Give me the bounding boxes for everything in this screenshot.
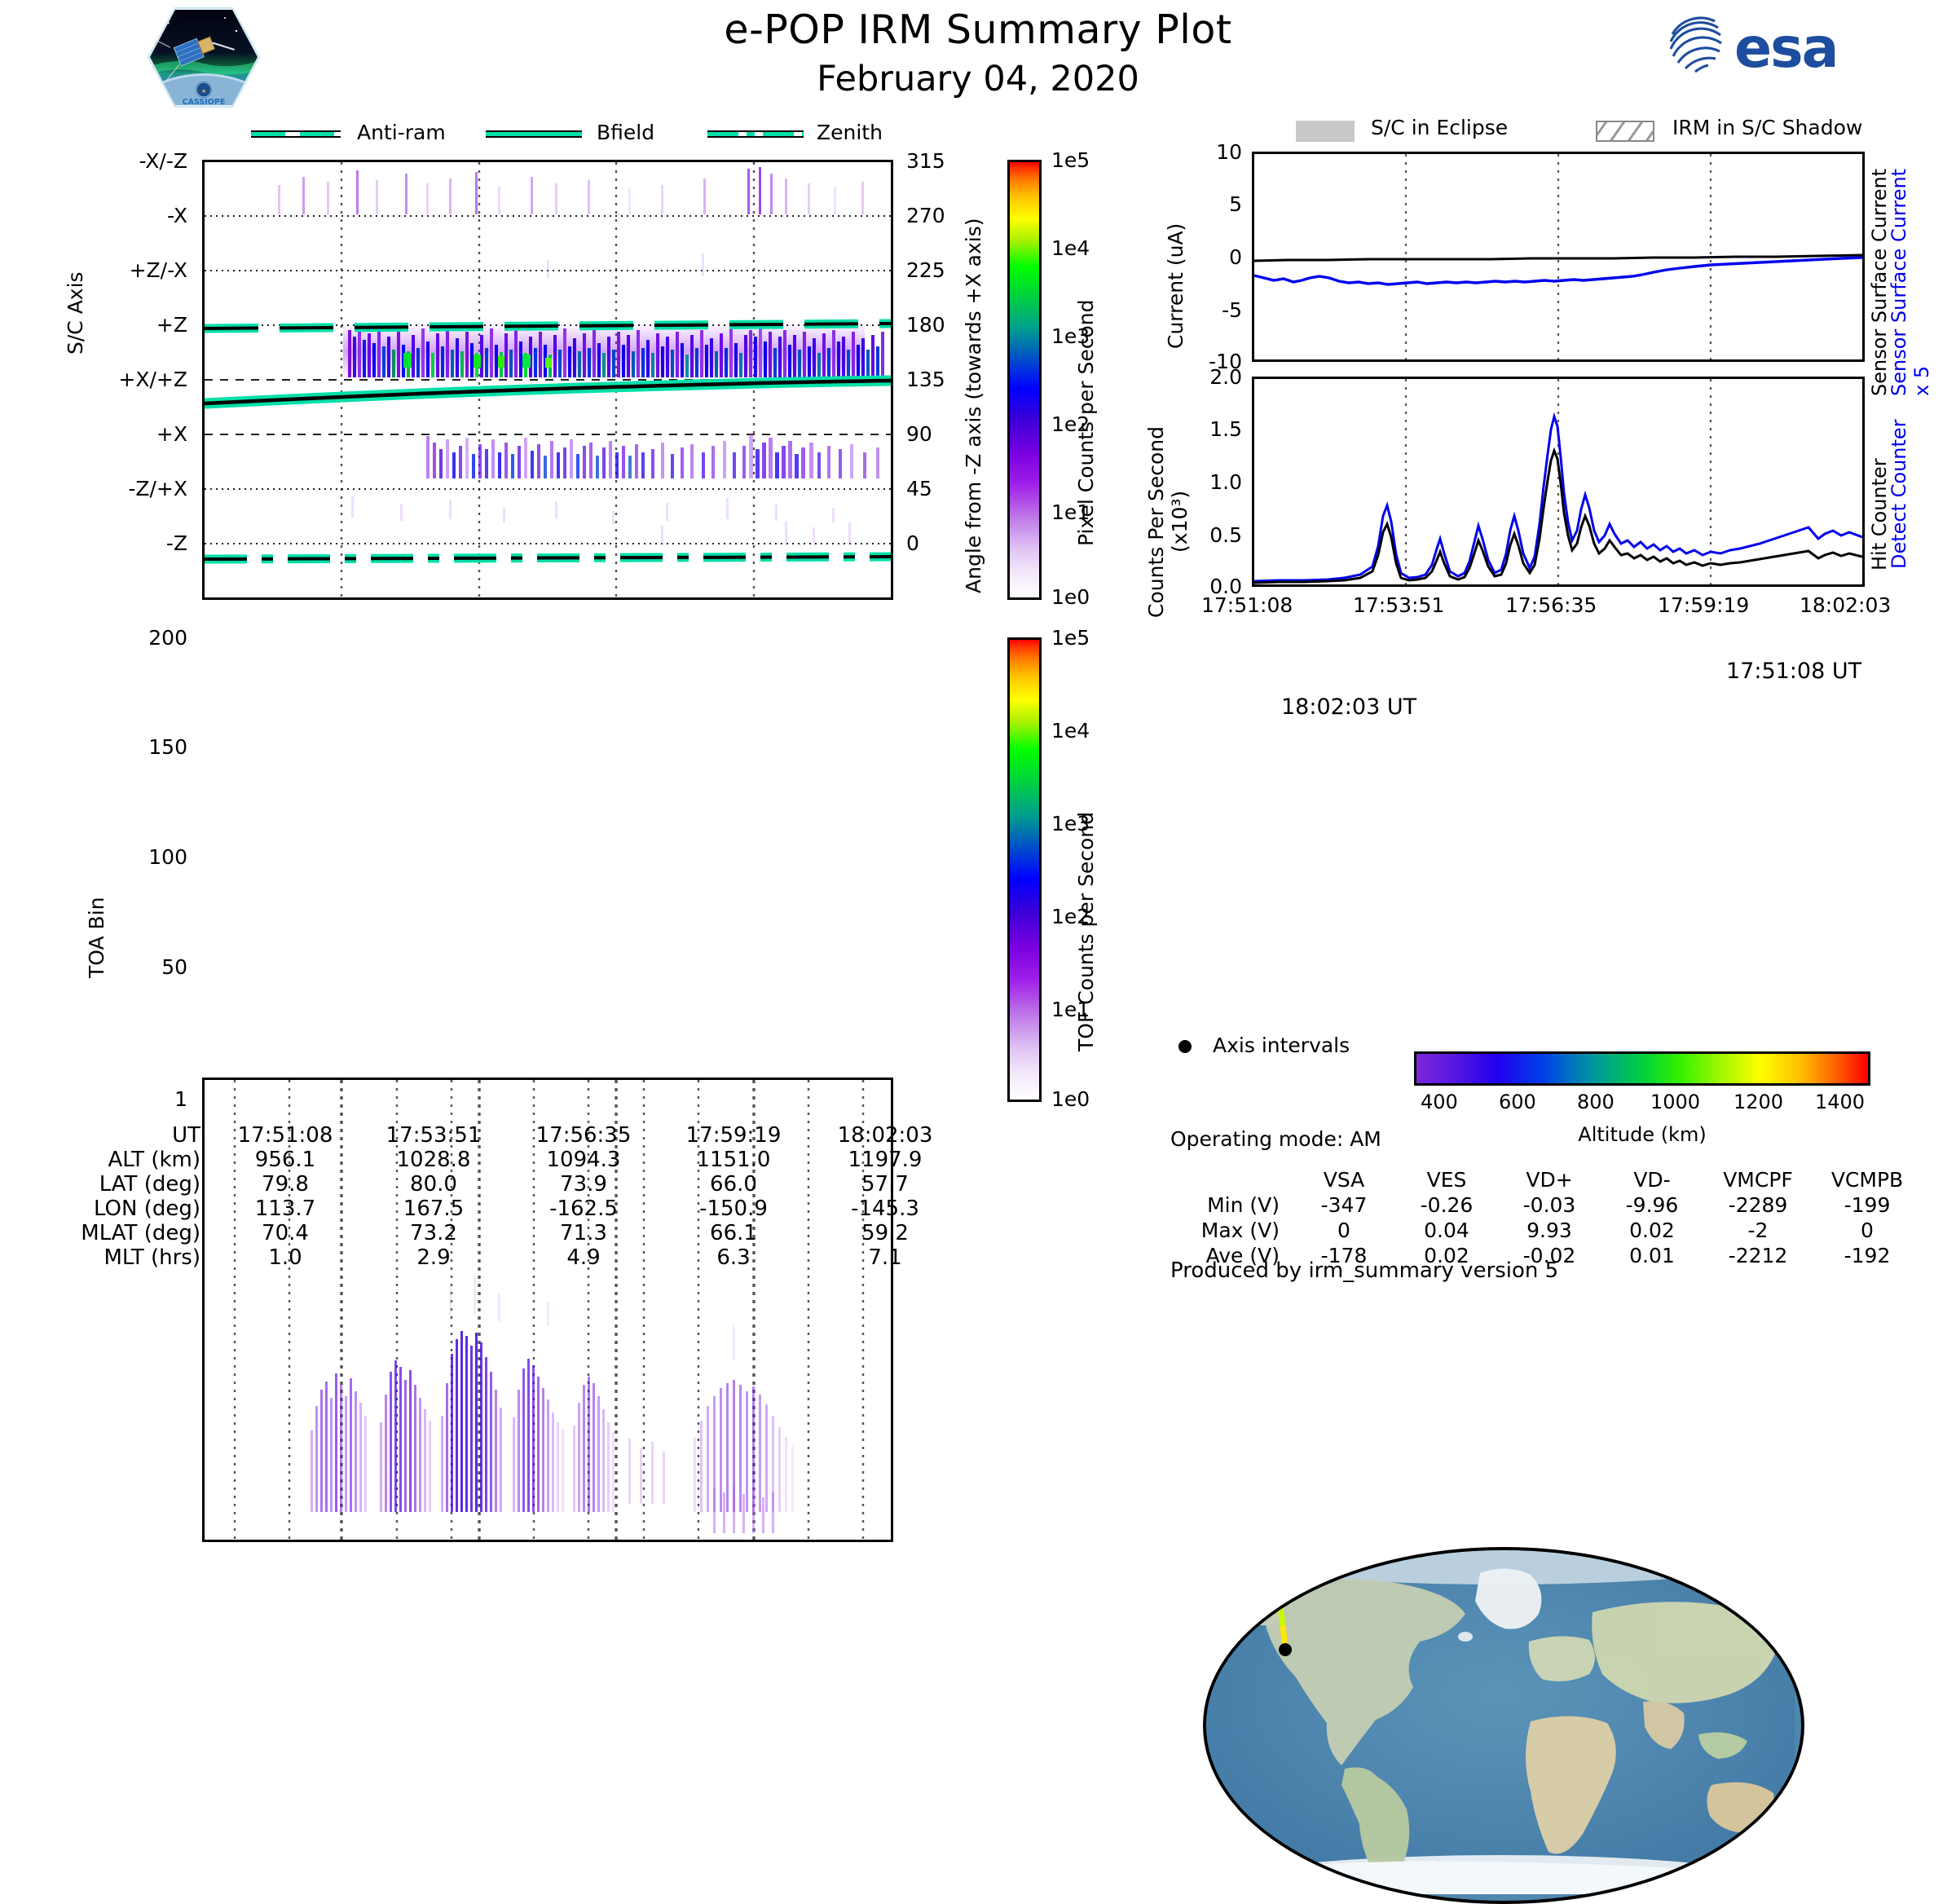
sc-tick-0: -X/-Z xyxy=(139,149,187,173)
angle-tick-0: 0 xyxy=(906,531,919,555)
min-vsa: -347 xyxy=(1293,1192,1395,1218)
vcol-ves: VES xyxy=(1395,1167,1498,1192)
alt-tick-1400: 1400 xyxy=(1815,1091,1865,1113)
cnt-x-3: 17:59:19 xyxy=(1658,593,1749,617)
toa-yticks: 200 150 100 50 1 xyxy=(106,637,196,1102)
toa-tick-100: 100 xyxy=(148,845,187,869)
alt-c0: 956.1 xyxy=(212,1148,359,1172)
landmass-new-zealand xyxy=(1756,1840,1778,1853)
max-vdp: 9.93 xyxy=(1498,1218,1601,1243)
max-ves: 0.04 xyxy=(1395,1218,1498,1243)
angle-tick-270: 270 xyxy=(906,204,945,227)
ut-c2: 17:56:35 xyxy=(509,1123,659,1148)
row-label-mlat: MLAT (deg) xyxy=(49,1221,212,1245)
sc-axis-yticks: -X/-Z -X +Z/-X +Z +X/+Z +X -Z/+X -Z xyxy=(90,160,196,600)
counts-xticks: 17:51:08 17:53:51 17:56:35 17:59:19 18:0… xyxy=(1252,593,1865,626)
toa-tick-1: 1 xyxy=(174,1087,187,1111)
table-row: Max (V) 0 0.04 9.93 0.02 -2 0 xyxy=(1170,1218,1922,1243)
altitude-colorbar xyxy=(1414,1051,1870,1086)
lat-c4: 57.7 xyxy=(808,1172,962,1197)
produced-by-label: Produced by irm_summary version 5 xyxy=(1170,1258,1558,1283)
current-panel[interactable] xyxy=(1252,152,1865,362)
mlt-c4: 7.1 xyxy=(808,1245,962,1270)
ut-c1: 17:53:51 xyxy=(359,1123,509,1148)
ground-track-map[interactable] xyxy=(1203,1547,1804,1904)
toa-tick-50: 50 xyxy=(161,955,187,979)
toa-tick-200: 200 xyxy=(148,626,187,650)
alt-tick-800: 800 xyxy=(1577,1091,1615,1113)
angle-tick-225: 225 xyxy=(906,258,945,282)
legend-label-zenith: Zenith xyxy=(817,121,883,144)
max-vcmpb: 0 xyxy=(1813,1218,1922,1243)
mlt-c0: 1.0 xyxy=(212,1245,359,1270)
angle-tick-45: 45 xyxy=(906,477,932,500)
alt-c3: 1151.0 xyxy=(659,1148,808,1172)
ut-c0: 17:51:08 xyxy=(212,1123,359,1148)
cnt-tick-05: 0.5 xyxy=(1209,523,1242,547)
map-start-label: 17:51:08 UT xyxy=(1726,659,1861,684)
hit-counter-trace xyxy=(1254,451,1862,583)
angle-tick-180: 180 xyxy=(906,313,945,337)
table-row: Min (V) -347 -0.26 -0.03 -9.96 -2289 -19… xyxy=(1170,1192,1922,1218)
landmass-europe xyxy=(1529,1636,1595,1681)
lat-c1: 80.0 xyxy=(359,1172,509,1197)
sc-tick-3: +Z xyxy=(156,313,187,337)
angle-tick-90: 90 xyxy=(906,422,932,446)
landmass-antarctica xyxy=(1206,1861,1795,1894)
angle-tick-315: 315 xyxy=(906,149,945,173)
table-row: ALT (km) 956.1 1028.8 1094.3 1151.0 1197… xyxy=(49,1148,962,1172)
cnt-x-1: 17:53:51 xyxy=(1353,593,1444,617)
vcol-vsa: VSA xyxy=(1293,1167,1395,1192)
angle-tick-135: 135 xyxy=(906,368,945,391)
cur-tick-0: 0 xyxy=(1229,245,1242,269)
current-yticks: 10 5 0 -5 -10 xyxy=(1182,152,1250,362)
alt-c2: 1094.3 xyxy=(509,1148,659,1172)
sc-tick-7: -Z xyxy=(166,531,187,555)
altitude-colorbar-label: Altitude (km) xyxy=(1414,1123,1870,1146)
cnt-x-4: 18:02:03 xyxy=(1800,593,1891,617)
table-row: LON (deg) 113.7 167.5 -162.5 -150.9 -145… xyxy=(49,1197,962,1221)
zenith-trace xyxy=(205,557,891,559)
legend-swatch-eclipse xyxy=(1296,121,1355,142)
lon-c0: 113.7 xyxy=(212,1197,359,1221)
lat-c3: 66.0 xyxy=(659,1172,808,1197)
lon-c4: -145.3 xyxy=(808,1197,962,1221)
vrow-label-max: Max (V) xyxy=(1170,1218,1293,1243)
vcol-vcmpb: VCMPB xyxy=(1813,1167,1922,1192)
axis-interval-label: Axis intervals xyxy=(1213,1034,1350,1057)
voltage-header-row: VSA VES VD+ VD- VMCPF VCMPB xyxy=(1170,1167,1922,1192)
sc-tick-2: +Z/-X xyxy=(130,258,187,282)
ut-c4: 18:02:03 xyxy=(808,1123,962,1148)
ave-vmcpf: -2212 xyxy=(1703,1243,1813,1268)
row-label-ut: UT xyxy=(49,1123,212,1148)
bfield-trace xyxy=(205,381,891,403)
legend-left: Anti-ram Bfield Zenith xyxy=(236,121,823,148)
landmass-iceland xyxy=(1458,1632,1473,1642)
sc-tick-5: +X xyxy=(156,422,187,446)
tof-cb-1e5: 1e5 xyxy=(1051,626,1090,650)
cnt-tick-1: 1.0 xyxy=(1209,470,1242,494)
min-vdm: -9.96 xyxy=(1601,1192,1703,1218)
sc-tick-4: +X/+Z xyxy=(118,368,187,391)
current-right-label-blue: Sensor Surface Current x 5 xyxy=(1888,152,1933,396)
cur-tick-m5: -5 xyxy=(1222,298,1242,322)
mlat-c2: 71.3 xyxy=(509,1221,659,1245)
row-label-lon: LON (deg) xyxy=(49,1197,212,1221)
counts-panel[interactable] xyxy=(1252,377,1865,587)
lon-c2: -162.5 xyxy=(509,1197,659,1221)
table-row: LAT (deg) 79.8 80.0 73.9 66.0 57.7 xyxy=(49,1172,962,1197)
legend-label-anti-ram: Anti-ram xyxy=(357,121,446,144)
cnt-x-0: 17:51:08 xyxy=(1201,593,1293,617)
row-label-mlt: MLT (hrs) xyxy=(49,1245,212,1270)
legend-swatch-bfield xyxy=(486,130,582,138)
table-row: UT 17:51:08 17:53:51 17:56:35 17:59:19 1… xyxy=(49,1123,962,1148)
row-label-lat: LAT (deg) xyxy=(49,1172,212,1197)
cur-tick-5: 5 xyxy=(1229,192,1242,216)
cur-tick-10: 10 xyxy=(1216,140,1242,164)
mlt-c2: 4.9 xyxy=(509,1245,659,1270)
counts-right-label-blue: Detect Counter xyxy=(1888,381,1910,569)
min-vcmpb: -199 xyxy=(1813,1192,1922,1218)
altitude-colorbar-ticks: 400 600 800 1000 1200 1400 xyxy=(1414,1091,1870,1118)
vcol-vmcpf: VMCPF xyxy=(1703,1167,1813,1192)
max-vsa: 0 xyxy=(1293,1218,1395,1243)
toa-tick-150: 150 xyxy=(148,735,187,759)
ephemeris-table: UT 17:51:08 17:53:51 17:56:35 17:59:19 1… xyxy=(49,1123,962,1270)
pix-cb-1e0: 1e0 xyxy=(1051,585,1090,609)
row-label-alt: ALT (km) xyxy=(49,1148,212,1172)
axis-interval-dot xyxy=(1178,1040,1192,1053)
esa-logo: esa xyxy=(1654,10,1899,83)
map-end-label: 18:02:03 UT xyxy=(1281,694,1416,720)
table-row: MLT (hrs) 1.0 2.9 4.9 6.3 7.1 xyxy=(49,1245,962,1270)
min-vmcpf: -2289 xyxy=(1703,1192,1813,1218)
mlat-c4: 59.2 xyxy=(808,1221,962,1245)
operating-mode-label: Operating mode: AM xyxy=(1170,1127,1381,1151)
vrow-label-min: Min (V) xyxy=(1170,1192,1293,1218)
vcol-vdm: VD- xyxy=(1601,1167,1703,1192)
legend-swatch-shadow xyxy=(1596,121,1654,142)
ut-c3: 17:59:19 xyxy=(659,1123,808,1148)
mlat-c3: 66.1 xyxy=(659,1221,808,1245)
counts-right-label-black: Hit Counter xyxy=(1868,391,1891,571)
vcol-vdp: VD+ xyxy=(1498,1167,1601,1192)
angle-axis-label: Angle from -Z axis (towards +X axis) xyxy=(962,170,985,593)
legend-right: S/C in Eclipse IRM in S/C Shadow xyxy=(1296,114,1932,143)
legend-label-bfield: Bfield xyxy=(597,121,654,144)
cnt-x-2: 17:56:35 xyxy=(1505,593,1597,617)
alt-tick-1000: 1000 xyxy=(1650,1091,1700,1113)
legend-swatch-zenith xyxy=(707,130,804,138)
alt-c4: 1197.9 xyxy=(808,1148,962,1172)
sc-tick-1: -X xyxy=(167,204,187,227)
ave-vdm: 0.01 xyxy=(1601,1243,1703,1268)
mlat-c1: 73.2 xyxy=(359,1221,509,1245)
tof-counts-colorbar-label: TOF Counts per Second xyxy=(1074,685,1098,1051)
current-right-label-black: Sensor Surface Current xyxy=(1868,152,1891,396)
mlt-c3: 6.3 xyxy=(659,1245,808,1270)
mlat-c0: 70.4 xyxy=(212,1221,359,1245)
mlt-c1: 2.9 xyxy=(359,1245,509,1270)
tof-counts-colorbar xyxy=(1007,637,1042,1102)
lat-c0: 79.8 xyxy=(212,1172,359,1197)
svg-text:esa: esa xyxy=(1734,16,1837,81)
sc-tick-6: -Z/+X xyxy=(128,477,187,500)
ave-vcmpb: -192 xyxy=(1813,1243,1922,1268)
sensor-current-trace xyxy=(1254,255,1862,261)
alt-tick-400: 400 xyxy=(1421,1091,1458,1113)
lon-c3: -150.9 xyxy=(659,1197,808,1221)
cnt-tick-2: 2.0 xyxy=(1209,365,1242,389)
sc-axis-panel[interactable] xyxy=(202,160,893,600)
alt-tick-600: 600 xyxy=(1499,1091,1536,1113)
alt-tick-1200: 1200 xyxy=(1734,1091,1783,1113)
max-vmcpf: -2 xyxy=(1703,1218,1813,1243)
voltage-table: VSA VES VD+ VD- VMCPF VCMPB Min (V) -347… xyxy=(1170,1167,1904,1268)
min-vdp: -0.03 xyxy=(1498,1192,1601,1218)
sc-axis-ylabel: S/C Axis xyxy=(64,208,87,355)
pix-cb-1e5: 1e5 xyxy=(1051,148,1090,172)
pixel-counts-colorbar xyxy=(1007,160,1042,600)
legend-label-shadow: IRM in S/C Shadow xyxy=(1672,116,1862,139)
legend-swatch-anti-ram xyxy=(251,130,341,138)
axis-interval-legend: Axis intervals xyxy=(1178,1034,1439,1063)
lon-c1: 167.5 xyxy=(359,1197,509,1221)
max-vdm: 0.02 xyxy=(1601,1218,1703,1243)
tof-cb-1e0: 1e0 xyxy=(1051,1087,1090,1111)
toa-ylabel: TOA Bin xyxy=(85,848,108,978)
lat-c2: 73.9 xyxy=(509,1172,659,1197)
min-ves: -0.26 xyxy=(1395,1192,1498,1218)
pixel-counts-colorbar-label: Pixel Counts per Second xyxy=(1074,204,1098,546)
alt-c1: 1028.8 xyxy=(359,1148,509,1172)
table-row: MLAT (deg) 70.4 73.2 71.3 66.1 59.2 xyxy=(49,1221,962,1245)
cnt-tick-15: 1.5 xyxy=(1209,417,1242,441)
legend-label-eclipse: S/C in Eclipse xyxy=(1371,116,1508,139)
counts-yticks: 2.0 1.5 1.0 0.5 0.0 xyxy=(1165,377,1250,587)
